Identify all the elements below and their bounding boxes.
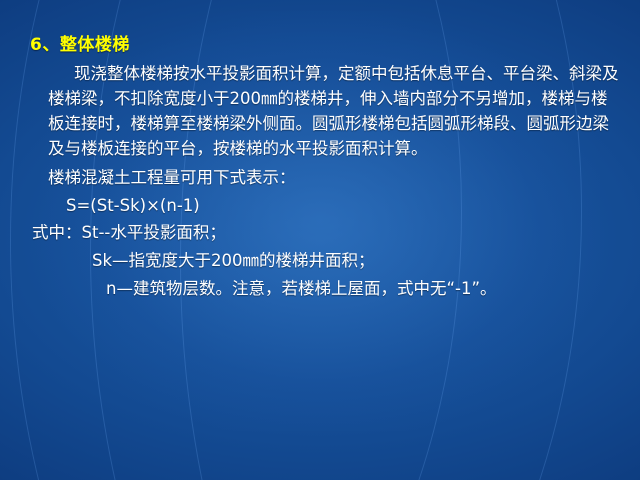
where-st-line: 式中：St--水平投影面积； xyxy=(22,220,622,246)
body-paragraph: 现浇整体楼梯按水平投影面积计算，定额中包括休息平台、平台梁、斜梁及楼梯梁，不扣除… xyxy=(22,61,622,161)
where-n-line: n—建筑物层数。注意，若楼梯上屋面，式中无“-1”。 xyxy=(22,276,622,302)
slide-canvas: 6、整体楼梯 现浇整体楼梯按水平投影面积计算，定额中包括休息平台、平台梁、斜梁及… xyxy=(0,0,640,480)
slide-heading: 6、整体楼梯 xyxy=(30,30,622,55)
formula-line: S=(St-Sk)×(n-1) xyxy=(22,193,622,219)
where-sk-line: Sk—指宽度大于200㎜的楼梯井面积； xyxy=(22,248,622,274)
slide-content: 6、整体楼梯 现浇整体楼梯按水平投影面积计算，定额中包括休息平台、平台梁、斜梁及… xyxy=(0,0,640,301)
formula-intro-line: 楼梯混凝土工程量可用下式表示： xyxy=(22,165,622,191)
